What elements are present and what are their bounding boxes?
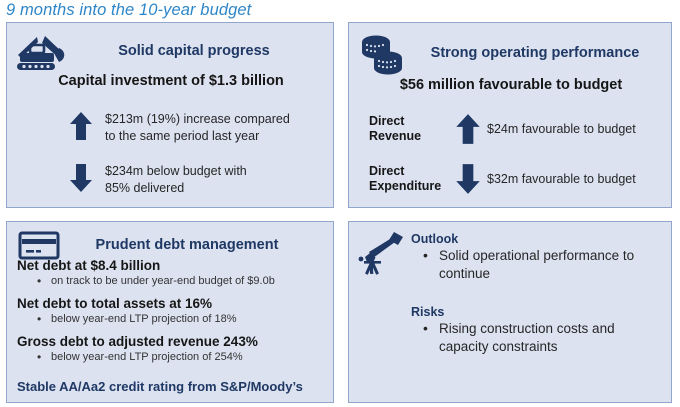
debt-item-2-title: Net debt to total assets at 16% [17, 296, 329, 311]
outlook-bullet-1: Solid operational performance to continu… [411, 247, 661, 283]
debt-item-3-bullet: below year-end LTP projection of 254% [17, 351, 329, 363]
debt-item-2-bullet: below year-end LTP projection of 18% [17, 313, 329, 325]
panel-strong-operating-performance: Strong operating performance $56 million… [348, 22, 672, 208]
capital-item-2: $234m below budget with 85% delivered [69, 163, 247, 196]
outlook-group-outlook: Outlook Solid operational performance to… [411, 232, 661, 283]
outlook-group-title: Outlook [411, 232, 661, 246]
outlook-group-risks: Risks Rising construction costs and capa… [411, 305, 661, 356]
excavator-icon [15, 31, 67, 71]
risks-group-title: Risks [411, 305, 661, 319]
arrow-up-icon [69, 111, 93, 141]
arrow-up-icon [455, 113, 481, 145]
debt-items: Net debt at $8.4 billion on track to be … [17, 258, 329, 372]
debt-credit-rating-footer: Stable AA/Aa2 credit rating from S&P/Moo… [17, 379, 303, 394]
capital-heading-wrap: Solid capital progress [71, 42, 327, 60]
panel-solid-capital-progress: Solid capital progress Capital investmen… [6, 22, 334, 208]
credit-card-icon [15, 228, 63, 262]
operating-heading: Strong operating performance [431, 45, 640, 61]
arrow-down-icon [69, 163, 93, 193]
operating-metric-2: Direct Expenditure $32m favourable to bu… [369, 163, 636, 195]
operating-metric-2-value: $32m favourable to budget [487, 172, 636, 186]
capital-heading: Solid capital progress [118, 43, 270, 59]
outlook-body: Outlook Solid operational performance to… [411, 232, 661, 356]
capital-subheading: Capital investment of $1.3 billion [7, 73, 335, 89]
debt-heading-wrap: Prudent debt management [67, 236, 327, 254]
capital-panel-header: Solid capital progress [15, 31, 327, 71]
operating-metric-1-value: $24m favourable to budget [487, 122, 636, 136]
debt-item-3-title: Gross debt to adjusted revenue 243% [17, 334, 329, 349]
debt-item-1-title: Net debt at $8.4 billion [17, 258, 329, 273]
operating-subheading: $56 million favourable to budget [349, 77, 673, 93]
operating-metric-1: Direct Revenue $24m favourable to budget [369, 113, 636, 145]
operating-metric-2-label: Direct Expenditure [369, 164, 449, 195]
capital-item-2-text: $234m below budget with 85% delivered [105, 163, 247, 196]
outlook-icon-wrap [357, 230, 407, 276]
operating-heading-wrap: Strong operating performance [413, 44, 665, 62]
panel-outlook-and-risks: Outlook Solid operational performance to… [348, 221, 672, 403]
capital-item-1: $213m (19%) increase compared to the sam… [69, 111, 290, 144]
debt-panel-header: Prudent debt management [15, 228, 327, 262]
panel-prudent-debt-management: Prudent debt management Net debt at $8.4… [6, 221, 334, 403]
arrow-down-icon [455, 163, 481, 195]
coins-icon [357, 31, 409, 75]
telescope-icon [357, 230, 407, 276]
operating-panel-header: Strong operating performance [357, 31, 665, 75]
page-title: 9 months into the 10-year budget [6, 1, 251, 20]
risks-bullet-1: Rising construction costs and capacity c… [411, 320, 661, 356]
operating-metric-1-label: Direct Revenue [369, 114, 449, 145]
capital-item-1-text: $213m (19%) increase compared to the sam… [105, 111, 290, 144]
debt-item-1-bullet: on track to be under year-end budget of … [17, 275, 329, 287]
debt-heading: Prudent debt management [96, 237, 279, 253]
